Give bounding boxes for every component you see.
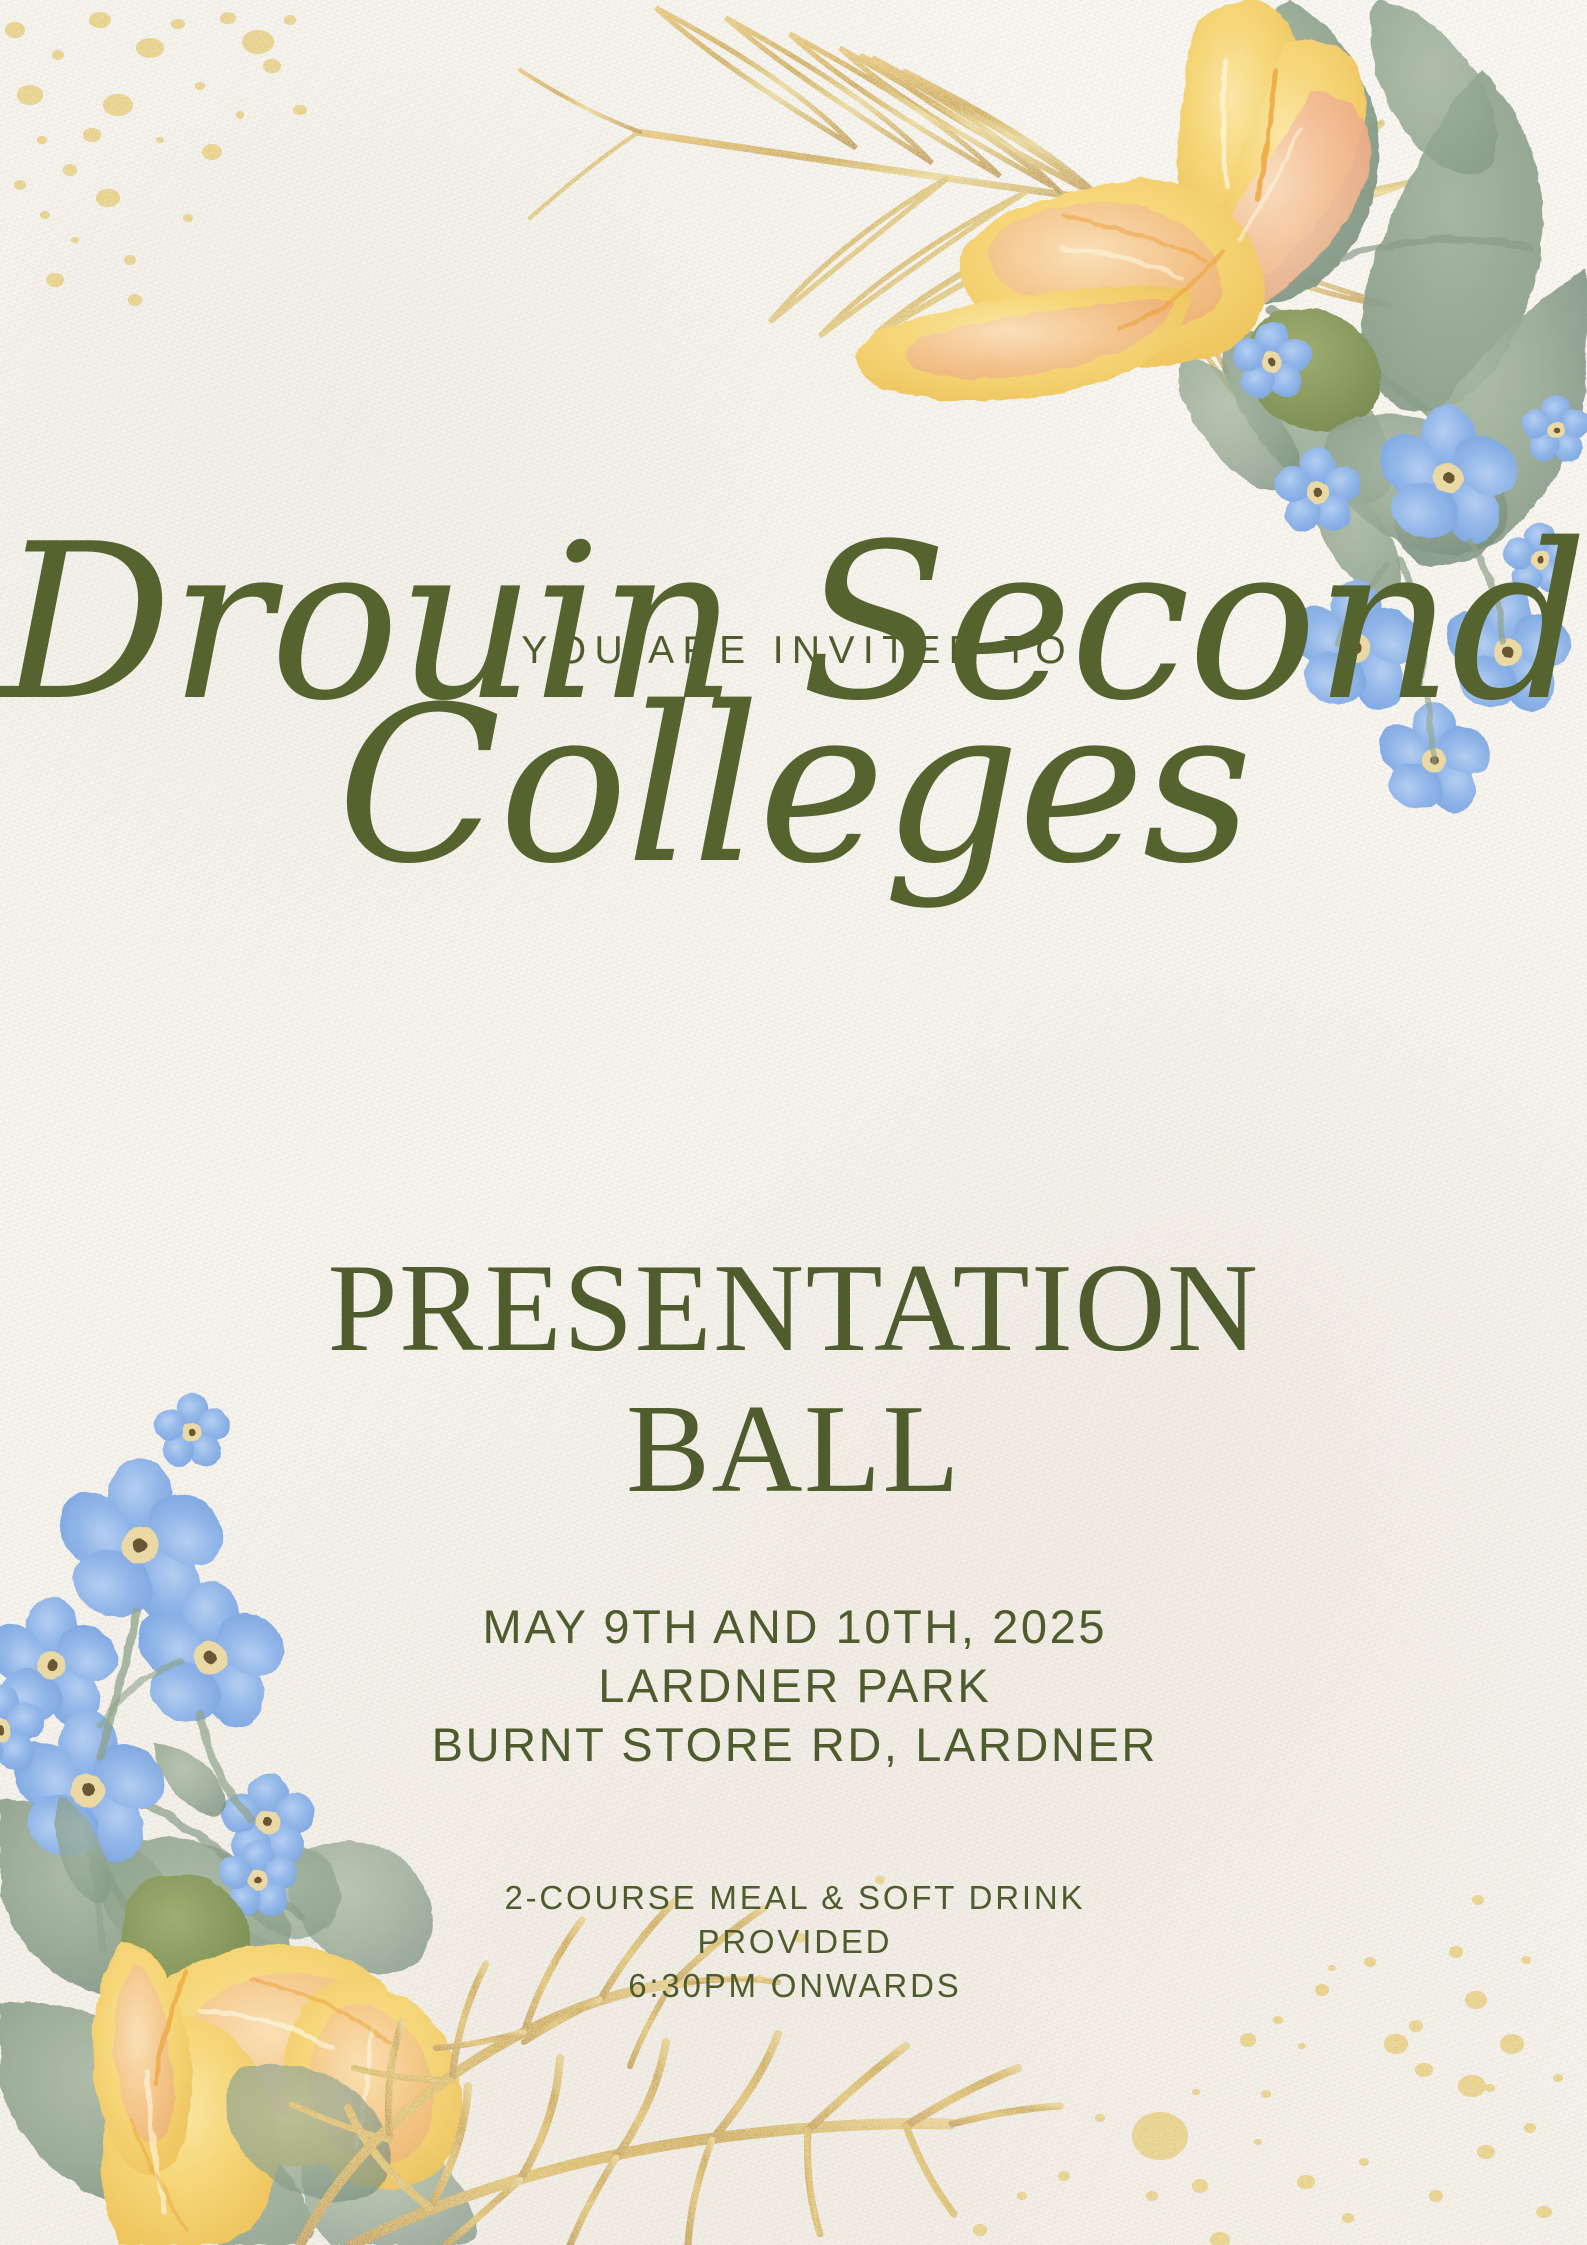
event-date: MAY 9TH AND 10TH, 2025 [0,1597,1587,1656]
event-title-line-2: BALL [0,1378,1587,1522]
event-details: MAY 9TH AND 10TH, 2025 LARDNER PARK BURN… [0,1597,1587,1775]
meal-line-2: PROVIDED [0,1920,1587,1964]
meal-line-1: 2-COURSE MEAL & SOFT DRINK [0,1876,1587,1920]
event-address: BURNT STORE RD, LARDNER [0,1715,1587,1774]
meal-information: 2-COURSE MEAL & SOFT DRINK PROVIDED 6:30… [0,1876,1587,2008]
meal-line-3: 6:30PM ONWARDS [0,1964,1587,2008]
invitation-poster: YOU ARE INVITED TO Drouin Secondary Coll… [0,0,1587,2245]
school-name-line-2: Colleges [0,660,1587,911]
event-title-line-1: PRESENTATION [0,1237,1587,1381]
poster-text-content: YOU ARE INVITED TO Drouin Secondary Coll… [0,0,1587,2245]
event-venue: LARDNER PARK [0,1656,1587,1715]
